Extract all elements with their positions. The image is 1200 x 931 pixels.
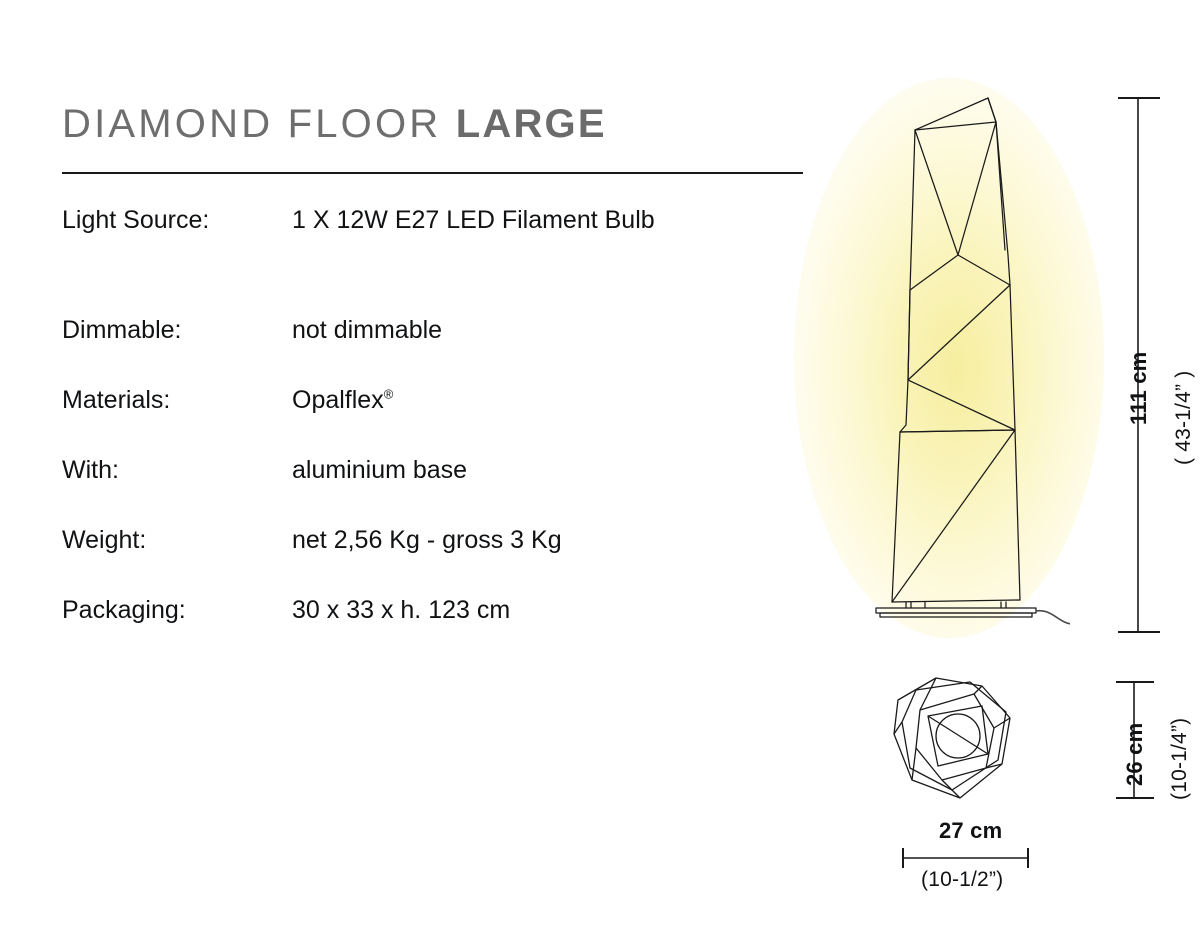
spec-label-dimmable: Dimmable: bbox=[62, 315, 181, 345]
dimension-depth-inches: (10-1/4”) bbox=[1168, 718, 1192, 800]
spec-label-materials: Materials: bbox=[62, 385, 170, 415]
dimension-width: 27 cm (10-1/2”) bbox=[885, 818, 1085, 898]
spec-value-with: aluminium base bbox=[292, 455, 467, 485]
registered-trademark-icon: ® bbox=[384, 387, 394, 402]
diamond-floor-lamp-elevation bbox=[870, 80, 1070, 640]
spec-value-materials: Opalflex® bbox=[292, 385, 393, 415]
materials-text: Opalflex bbox=[292, 386, 384, 414]
dimension-height: 111 cm ( 43-1/4” ) bbox=[1088, 95, 1200, 635]
spec-value-weight: net 2,56 Kg - gross 3 Kg bbox=[292, 525, 562, 555]
spec-label-packaging: Packaging: bbox=[62, 595, 186, 625]
table-row: Weight: net 2,56 Kg - gross 3 Kg bbox=[62, 525, 822, 555]
dimension-width-cm: 27 cm bbox=[939, 818, 1002, 844]
table-row: Light Source: 1 X 12W E27 LED Filament B… bbox=[62, 205, 822, 235]
illustration-panel: 111 cm ( 43-1/4” ) 26 cm (10-1/4”) 27 cm… bbox=[830, 0, 1200, 931]
diamond-floor-lamp-top-view bbox=[890, 672, 1020, 807]
spec-value-light-source: 1 X 12W E27 LED Filament Bulb bbox=[292, 205, 655, 235]
power-cord bbox=[1036, 607, 1070, 624]
spec-value-dimmable: not dimmable bbox=[292, 315, 442, 345]
table-row: Packaging: 30 x 33 x h. 123 cm bbox=[62, 595, 822, 625]
dimension-depth-cm: 26 cm bbox=[1122, 723, 1148, 786]
product-title-regular: DIAMOND FLOOR bbox=[62, 102, 441, 146]
spec-value-packaging: 30 x 33 x h. 123 cm bbox=[292, 595, 510, 625]
dimension-height-cm: 111 cm bbox=[1126, 352, 1152, 425]
table-row: Materials: Opalflex® bbox=[62, 385, 822, 415]
dimension-depth: 26 cm (10-1/4”) bbox=[1088, 670, 1200, 810]
table-row: Dimmable: not dimmable bbox=[62, 315, 822, 345]
spec-label-light-source: Light Source: bbox=[62, 205, 209, 235]
table-row: With: aluminium base bbox=[62, 455, 822, 485]
specification-panel: DIAMOND FLOOR LARGE Light Source: 1 X 12… bbox=[0, 0, 830, 931]
page-title: DIAMOND FLOOR LARGE bbox=[62, 104, 607, 144]
title-divider bbox=[62, 172, 803, 174]
spec-label-weight: Weight: bbox=[62, 525, 146, 555]
dimension-height-inches: ( 43-1/4” ) bbox=[1172, 371, 1196, 465]
product-title-bold: LARGE bbox=[456, 102, 607, 146]
spec-label-with: With: bbox=[62, 455, 119, 485]
dimension-width-inches: (10-1/2”) bbox=[921, 868, 1003, 892]
